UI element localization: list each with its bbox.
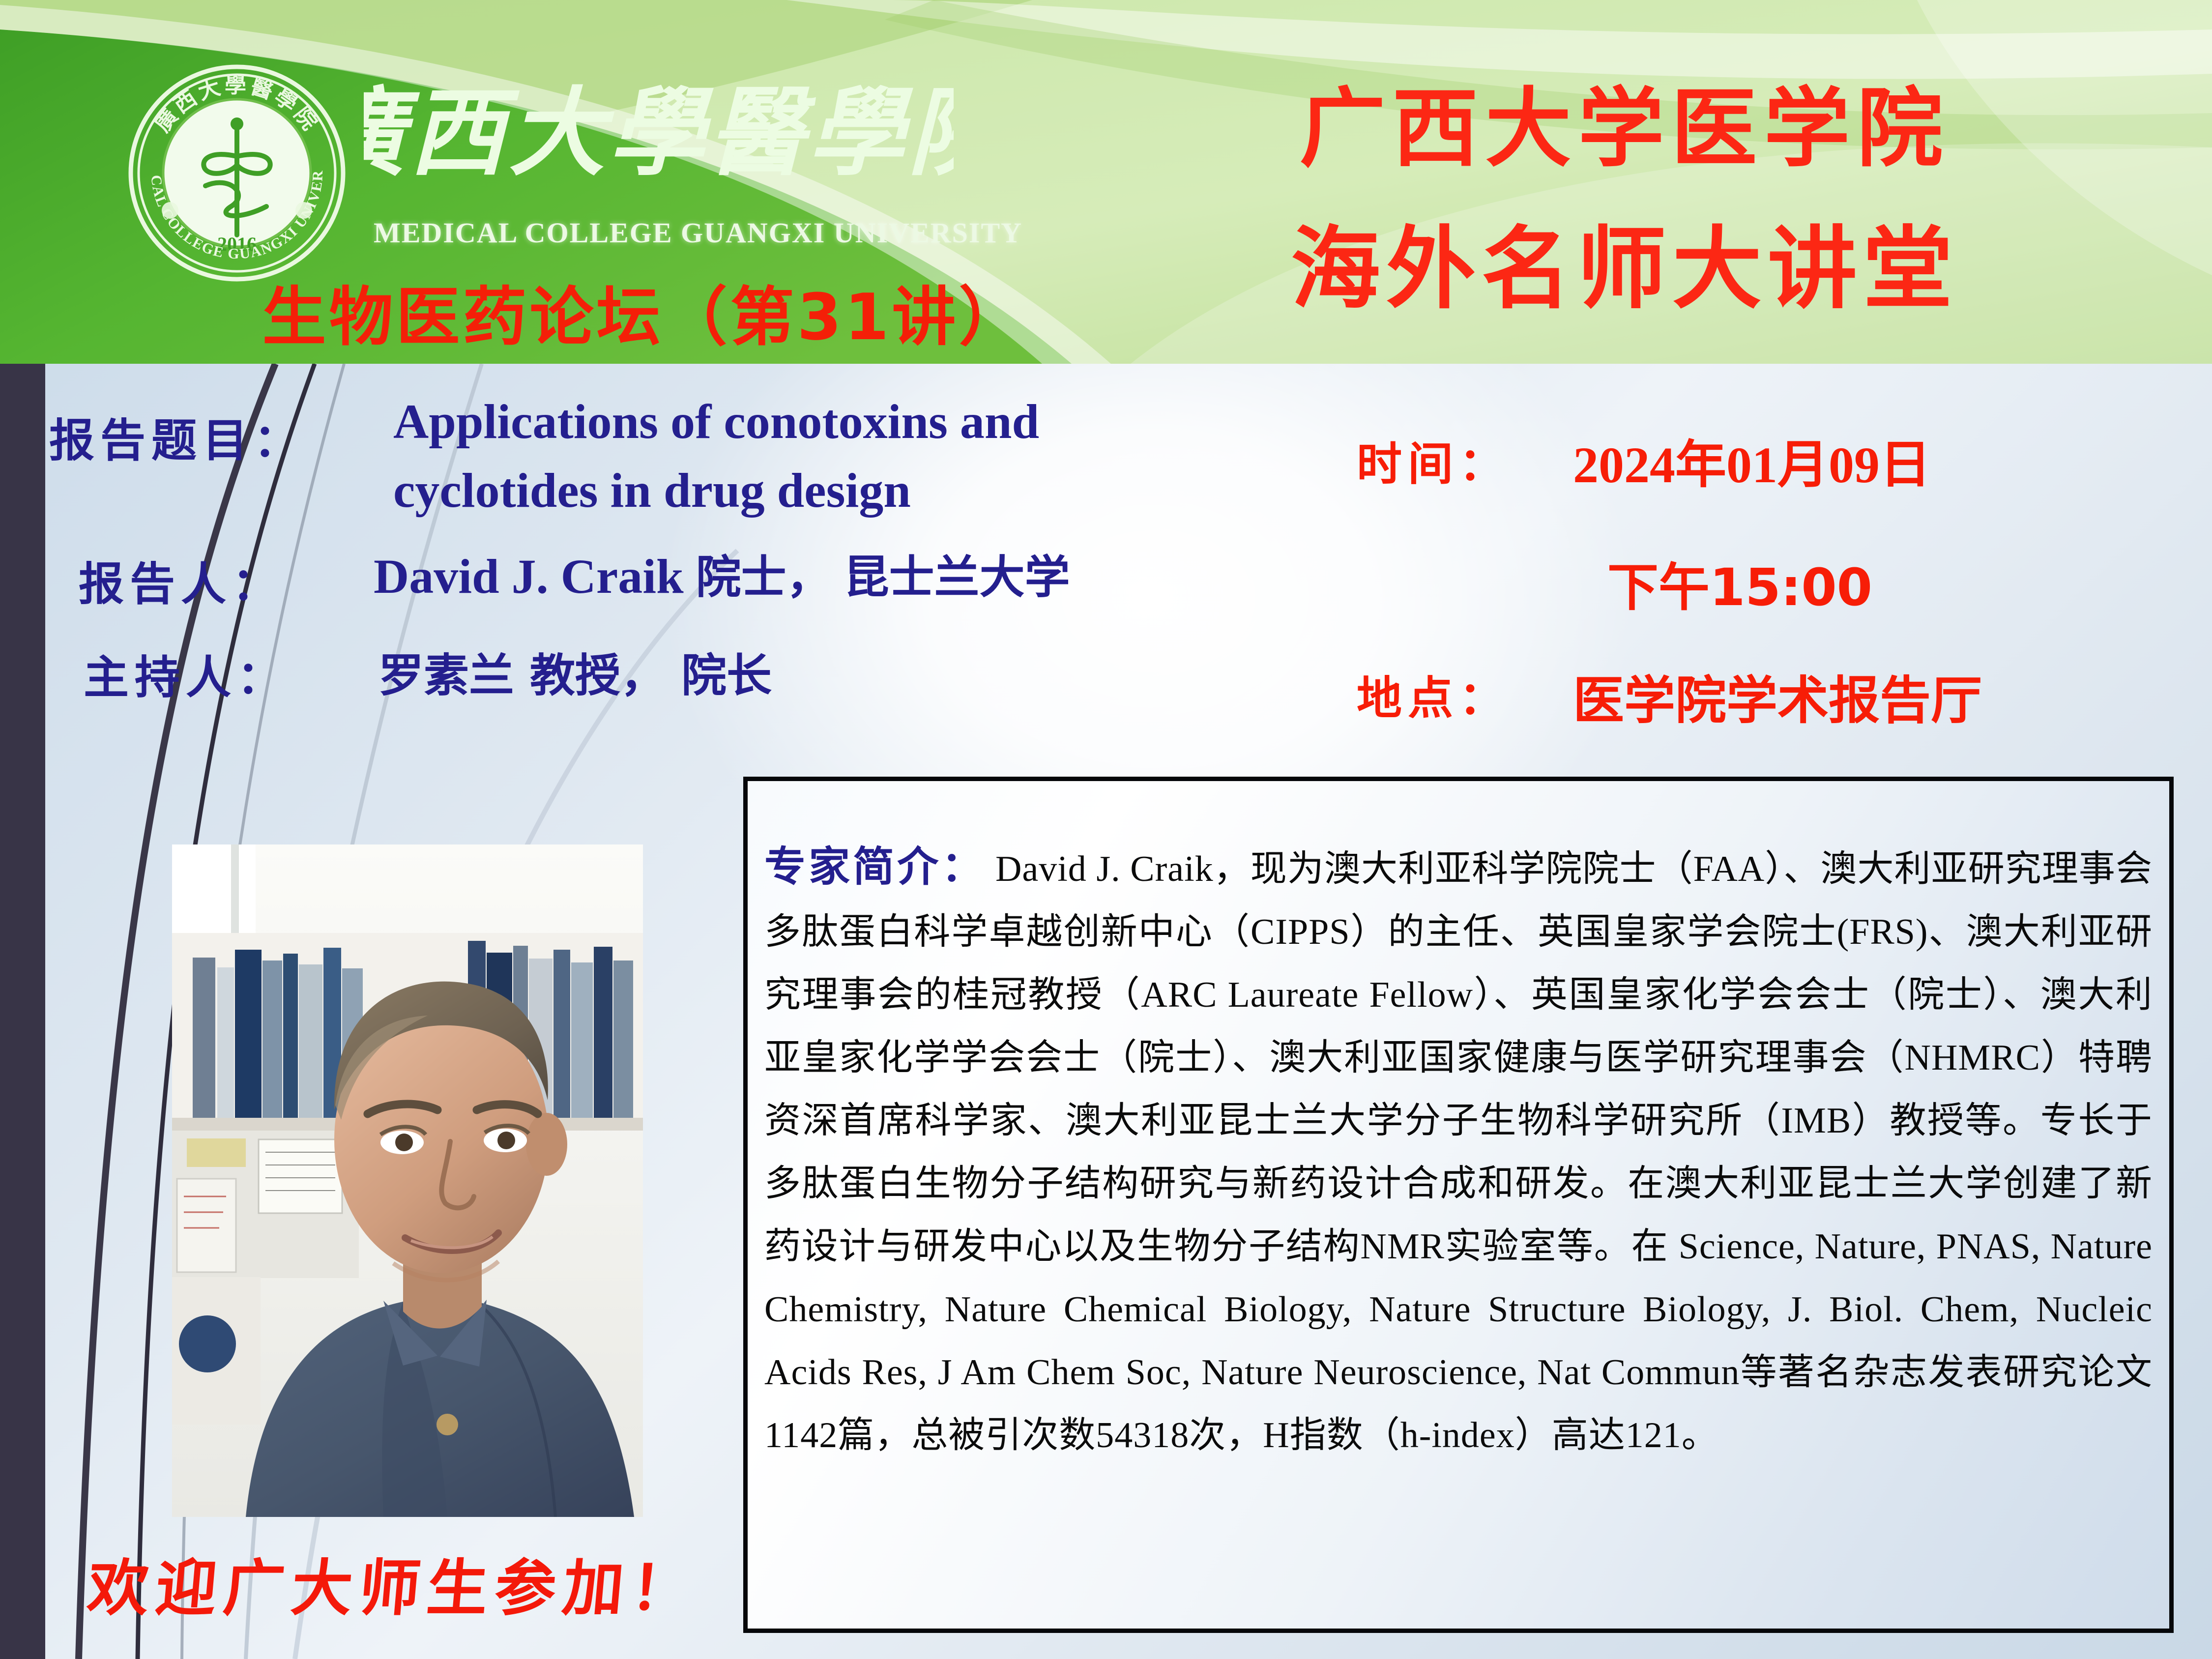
speaker-suffix: 院士， [696,551,832,604]
forum-series-label: 生物医药论坛（第31讲） [246,265,1042,358]
poster-root: 2016 廣西大學醫學院 MEDICAL COLLEGE GUANGXI UNI… [0,0,2212,1659]
university-wordmark-cn: 廣西大學醫學院 [364,68,954,201]
speaker-bio-box: 专家简介： David J. Craik，现为澳大利亚科学院院士（FAA）、澳大… [743,777,2174,1633]
host-label: 主持人： [84,641,288,706]
place-label: 地点： [1357,662,1510,727]
bio-body-text: David J. Craik，现为澳大利亚科学院院士（FAA）、澳大利亚研究理事… [764,849,2153,1455]
university-seal-logo: 2016 廣西大學醫學院 MEDICAL COLLEGE GUANGXI UNI… [127,63,347,283]
talk-title-line1: Applications of conotoxins and [393,393,1039,450]
header-banner: 2016 廣西大學醫學院 MEDICAL COLLEGE GUANGXI UNI… [0,0,2212,364]
date-label: 时间： [1357,428,1510,493]
date-value: 2024年01月09日 [1573,423,1931,497]
bio-heading-label: 专家简介： [764,843,986,891]
university-wordmark-en: MEDICAL COLLEGE GUANGXI UNIVERSITY [374,216,954,249]
speaker-portrait-illustration [172,844,643,1517]
speaker-name: David J. Craik [374,549,684,604]
header-title-line2: 海外名师大讲堂 [1121,197,2128,326]
left-dark-stripe [0,364,45,1659]
speaker-bio-paragraph: 专家简介： David J. Craik，现为澳大利亚科学院院士（FAA）、澳大… [764,835,2153,1467]
host-value: 罗素兰 教授， 院长 [378,639,772,704]
talk-title-label: 报告题目： [49,404,305,469]
svg-text:廣西大學醫學院: 廣西大學醫學院 [364,77,954,189]
header-title-line1: 广西大学医学院 [1121,59,2128,183]
time-value: 下午15:00 [1607,546,1872,620]
talk-title-line2: cyclotides in drug design [393,462,911,519]
speaker-value: David J. Craik 院士， 昆士兰大学 [374,541,1070,606]
welcome-message: 欢迎广大师生参加！ [85,1539,703,1627]
speaker-label: 报告人： [79,548,283,613]
speaker-photo [172,844,643,1517]
speaker-affiliation: 昆士兰大学 [844,551,1070,604]
place-value: 医学院学术报告厅 [1573,659,1982,733]
